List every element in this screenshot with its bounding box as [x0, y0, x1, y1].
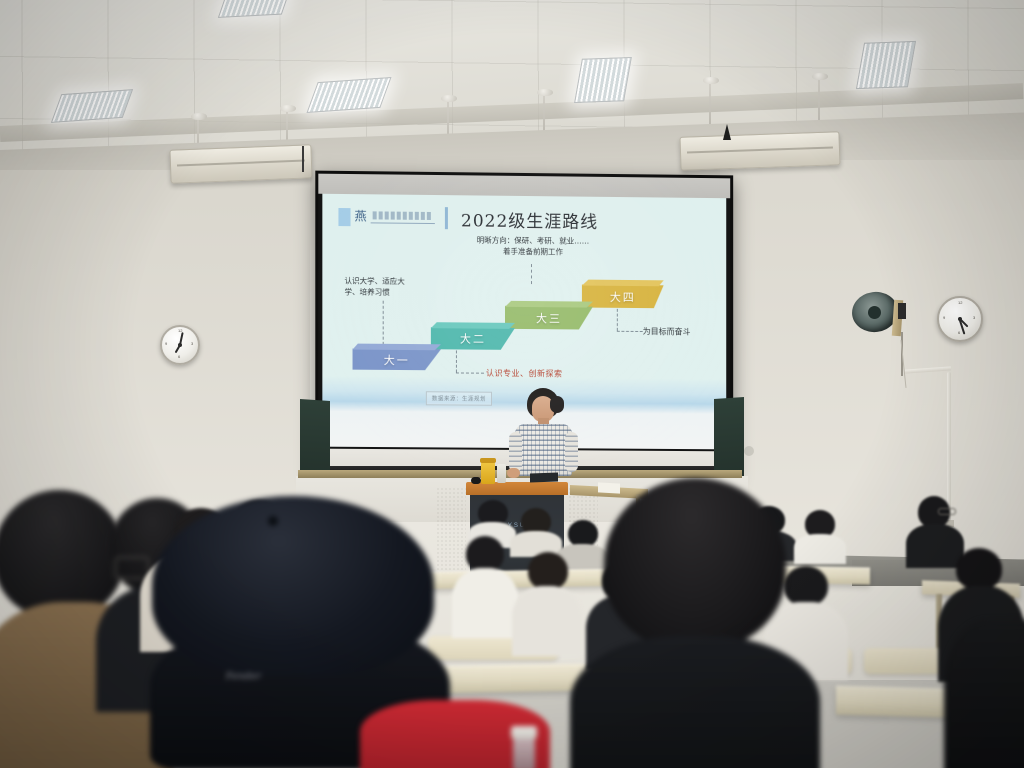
student-with-cap: Fender [0, 0, 1024, 768]
student-near-right [570, 478, 820, 768]
student-near-far-right [944, 620, 1024, 768]
cap-brand-logo: Fender [226, 672, 288, 686]
water-bottle[interactable] [508, 726, 540, 768]
bottle-body [513, 738, 535, 768]
student-head [604, 478, 786, 650]
lecture-hall-photo: 燕 2022级生涯路线 明晰方向：保研、考研、就业…… 着手准备前期工作 认识大… [0, 0, 1024, 768]
baseball-cap [152, 496, 434, 676]
student-shoulders [570, 636, 820, 768]
cap-button [268, 516, 278, 526]
